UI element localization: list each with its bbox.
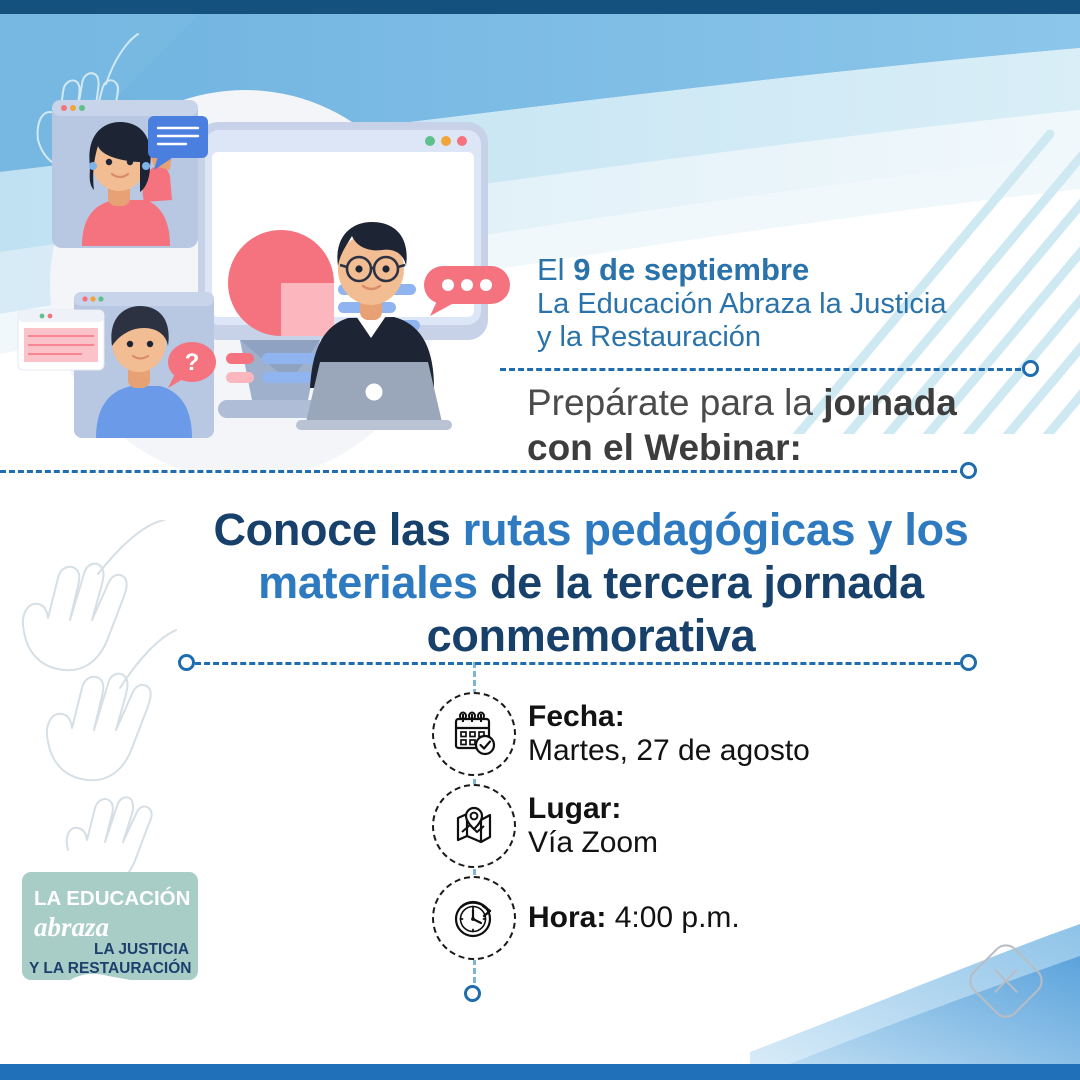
- event-detail-text-fecha: Fecha: Martes, 27 de agosto: [528, 700, 810, 767]
- logo-script: abraza: [34, 912, 109, 942]
- campaign-name-line1: La Educación Abraza la Justicia: [537, 288, 1037, 322]
- headline-part3: conmemorativa: [427, 610, 756, 661]
- hands-outline-icon: [6, 520, 196, 880]
- dashed-separator-2: [0, 470, 966, 473]
- prepare-webinar-text: Prepárate para la jornada con el Webinar…: [527, 380, 1037, 470]
- headline-part2: de la tercera jornada: [478, 557, 924, 608]
- fecha-value: Martes, 27 de agosto: [528, 734, 810, 768]
- event-detail-row-fecha: Fecha: Martes, 27 de agosto: [432, 688, 992, 780]
- bottom-blue-bar: [0, 1064, 1080, 1080]
- dashed-separator-3: [186, 662, 969, 665]
- poster-canvas: ? El 9 de septiembre La Educación Abraza…: [0, 0, 1080, 1080]
- logo-line3: Y LA RESTAURACIÓN: [29, 959, 191, 977]
- map-pin-icon: [432, 784, 516, 868]
- hora-value: 4:00 p.m.: [615, 901, 740, 934]
- svg-text:?: ?: [185, 349, 200, 376]
- headline-part1: Conoce las: [213, 504, 462, 555]
- event-detail-row-hora: Hora: 4:00 p.m.: [432, 872, 992, 964]
- vertical-connector-endpoint: [464, 985, 481, 1002]
- logo-line1: LA EDUCACIÓN: [34, 886, 190, 910]
- headline-highlight2: materiales: [258, 557, 478, 608]
- top-navy-bar: [0, 0, 1080, 14]
- dashed-separator-1-endpoint: [1022, 360, 1039, 377]
- lugar-value: Vía Zoom: [528, 826, 658, 860]
- event-detail-text-hora: Hora: 4:00 p.m.: [528, 901, 740, 935]
- fecha-label: Fecha:: [528, 700, 810, 734]
- page-title: Conoce las rutas pedagógicas y los mater…: [185, 503, 997, 662]
- prepare-text-part1: Prepárate para la: [527, 382, 823, 423]
- webinar-video-call-illustration: ?: [0, 70, 530, 470]
- logo-line2: LA JUSTICIA: [94, 941, 189, 958]
- lugar-label: Lugar:: [528, 792, 658, 826]
- dashed-separator-1: [500, 368, 1030, 371]
- dashed-separator-3-left-endpoint: [178, 654, 195, 671]
- dashed-separator-3-right-endpoint: [960, 654, 977, 671]
- event-detail-row-lugar: Lugar: Vía Zoom: [432, 780, 992, 872]
- date-headline: El 9 de septiembre: [537, 253, 1037, 288]
- event-details-list: Fecha: Martes, 27 de agosto Lugar: Vía Z…: [432, 688, 992, 964]
- campaign-logo: LA EDUCACIÓN abraza LA JUSTICIA Y LA RES…: [18, 870, 208, 1020]
- date-strong: 9 de septiembre: [573, 252, 809, 287]
- clock-icon: [432, 876, 516, 960]
- date-prefix: El: [537, 252, 573, 287]
- hora-label: Hora:: [528, 901, 606, 934]
- calendar-check-icon: [432, 692, 516, 776]
- hora-line: Hora: 4:00 p.m.: [528, 901, 740, 935]
- prepare-text-strong-webinar: con el Webinar:: [527, 427, 802, 468]
- dashed-separator-2-endpoint: [960, 462, 977, 479]
- event-detail-text-lugar: Lugar: Vía Zoom: [528, 792, 658, 859]
- prepare-text-strong-jornada: jornada: [823, 382, 957, 423]
- headline-highlight1: rutas pedagógicas y los: [463, 504, 969, 555]
- date-announcement-block: El 9 de septiembre La Educación Abraza l…: [537, 253, 1037, 355]
- campaign-name-line2: y la Restauración: [537, 321, 1037, 355]
